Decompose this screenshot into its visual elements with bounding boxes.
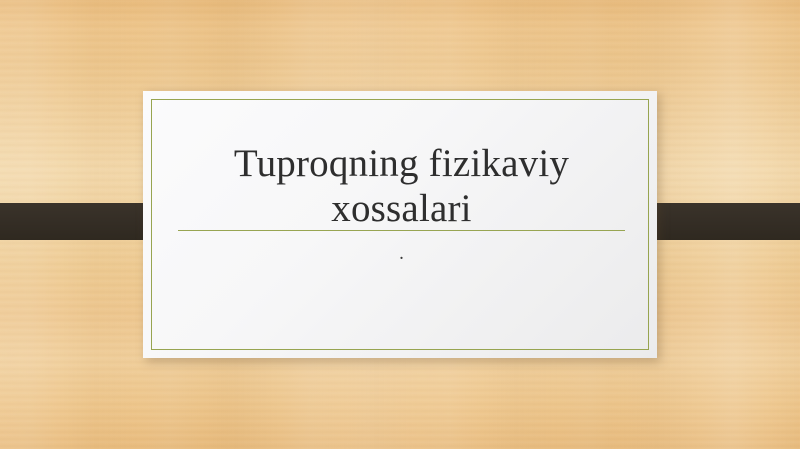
title-accent-rule (178, 230, 625, 231)
slide-title: Tuproqning fizikaviy xossalari (178, 141, 625, 231)
decorative-band-left (0, 203, 163, 240)
slide-title-line-1: Tuproqning fizikaviy (178, 141, 625, 186)
slide-subtitle: . (178, 243, 625, 265)
slide-subtitle-text: . (178, 243, 625, 265)
presentation-title-slide: Tuproqning fizikaviy xossalari . (0, 0, 800, 449)
slide-panel: Tuproqning fizikaviy xossalari . (143, 91, 657, 358)
decorative-band-right (638, 203, 800, 240)
slide-title-line-2: xossalari (178, 186, 625, 231)
